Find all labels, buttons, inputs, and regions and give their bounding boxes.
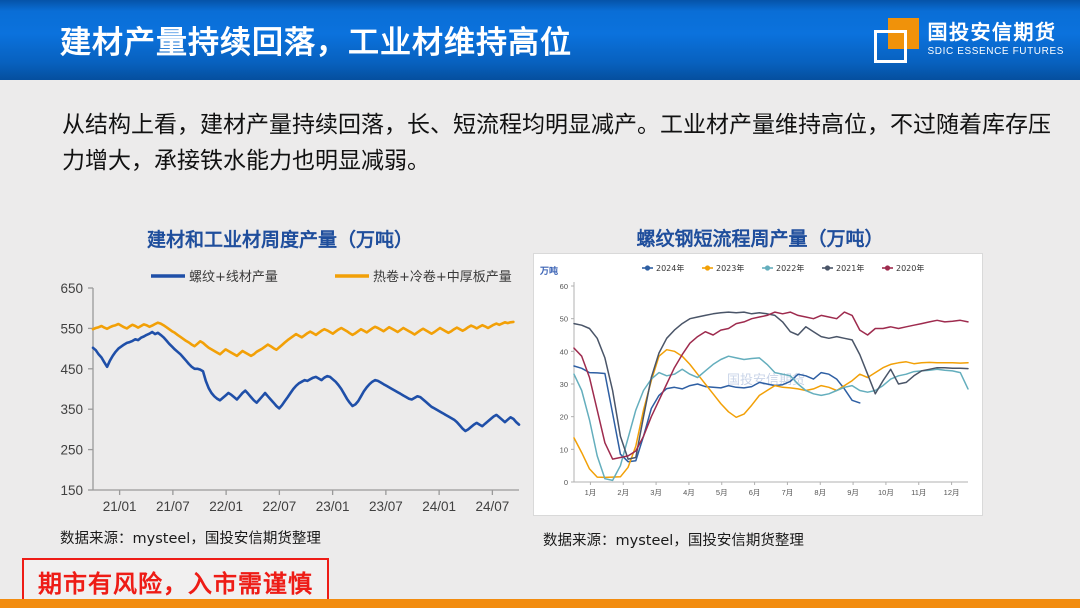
x-axis-tick-label: 6月 bbox=[749, 488, 761, 497]
x-axis-tick-label: 10月 bbox=[878, 488, 894, 497]
y-axis-tick-label: 30 bbox=[560, 380, 568, 389]
y-axis-tick-label: 60 bbox=[560, 282, 568, 291]
x-axis-tick-label: 3月 bbox=[650, 488, 662, 497]
x-axis-tick-label: 24/01 bbox=[422, 499, 456, 514]
chart-line-series bbox=[93, 322, 513, 356]
logo-company-name-cn: 国投安信期货 bbox=[928, 23, 1064, 44]
chart-right-title: 螺纹钢短流程周产量（万吨） bbox=[545, 224, 975, 251]
chart-left-title: 建材和工业材周度产量（万吨） bbox=[40, 225, 520, 252]
y-axis-tick-label: 250 bbox=[60, 443, 83, 458]
source-note-left: 数据来源：mysteel，国投安信期货整理 bbox=[60, 527, 321, 548]
x-axis-tick-label: 24/07 bbox=[475, 499, 509, 514]
x-axis-tick-label: 9月 bbox=[847, 488, 859, 497]
x-axis-tick-label: 22/01 bbox=[209, 499, 243, 514]
x-axis-tick-label: 2月 bbox=[617, 488, 629, 497]
x-axis-tick-label: 23/07 bbox=[369, 499, 403, 514]
legend-label: 2022年 bbox=[776, 263, 804, 273]
page-title: 建材产量持续回落，工业材维持高位 bbox=[60, 17, 572, 62]
y-axis-tick-label: 40 bbox=[560, 347, 568, 356]
y-axis-tick-label: 150 bbox=[60, 483, 83, 498]
body-paragraph: 从结构上看，建材产量持续回落，长、短流程均明显减产。工业材产量维持高位，不过随着… bbox=[62, 108, 1052, 179]
x-axis-tick-label: 22/07 bbox=[262, 499, 296, 514]
chart-right: 万吨01020304050601月2月3月4月5月6月7月8月9月10月11月1… bbox=[533, 253, 983, 516]
x-axis-tick-label: 8月 bbox=[814, 488, 826, 497]
page-header: 建材产量持续回落，工业材维持高位 国投安信期货 SDIC ESSENCE FUT… bbox=[0, 0, 1080, 80]
source-note-right: 数据来源：mysteel，国投安信期货整理 bbox=[543, 529, 804, 550]
legend-label: 2020年 bbox=[896, 263, 924, 273]
legend-label: 2021年 bbox=[836, 263, 864, 273]
y-axis-tick-label: 10 bbox=[560, 445, 568, 454]
x-axis-tick-label: 1月 bbox=[585, 488, 597, 497]
x-axis-tick-label: 21/07 bbox=[156, 499, 190, 514]
y-axis-tick-label: 650 bbox=[60, 281, 83, 296]
y-axis-unit-label: 万吨 bbox=[539, 265, 558, 277]
x-axis-tick-label: 5月 bbox=[716, 488, 728, 497]
x-axis-tick-label: 11月 bbox=[911, 488, 926, 497]
y-axis-tick-label: 0 bbox=[564, 478, 568, 487]
logo-text: 国投安信期货 SDIC ESSENCE FUTURES bbox=[928, 23, 1064, 58]
y-axis-tick-label: 450 bbox=[60, 362, 83, 377]
chart-line-series bbox=[93, 332, 519, 431]
legend-label: 热卷+冷卷+中厚板产量 bbox=[373, 269, 512, 285]
y-axis-tick-label: 350 bbox=[60, 402, 83, 417]
x-axis-tick-label: 4月 bbox=[683, 488, 695, 497]
x-axis-tick-label: 23/01 bbox=[316, 499, 350, 514]
y-axis-tick-label: 50 bbox=[560, 315, 568, 324]
legend-label: 螺纹+线材产量 bbox=[189, 270, 278, 285]
logo-mark-icon bbox=[874, 18, 919, 63]
x-axis-tick-label: 21/01 bbox=[103, 499, 137, 514]
y-axis-tick-label: 550 bbox=[60, 321, 83, 336]
company-logo: 国投安信期货 SDIC ESSENCE FUTURES bbox=[874, 12, 1064, 68]
logo-white-square-icon bbox=[874, 30, 907, 63]
x-axis-tick-label: 7月 bbox=[782, 488, 794, 497]
legend-label: 2024年 bbox=[656, 263, 684, 273]
bottom-accent-bar bbox=[0, 599, 1080, 608]
chart-left: 15025035045055065021/0121/0722/0122/0723… bbox=[35, 252, 525, 514]
y-axis-tick-label: 20 bbox=[560, 413, 568, 422]
legend-label: 2023年 bbox=[716, 263, 744, 273]
logo-company-name-en: SDIC ESSENCE FUTURES bbox=[928, 46, 1064, 58]
x-axis-tick-label: 12月 bbox=[944, 488, 960, 497]
